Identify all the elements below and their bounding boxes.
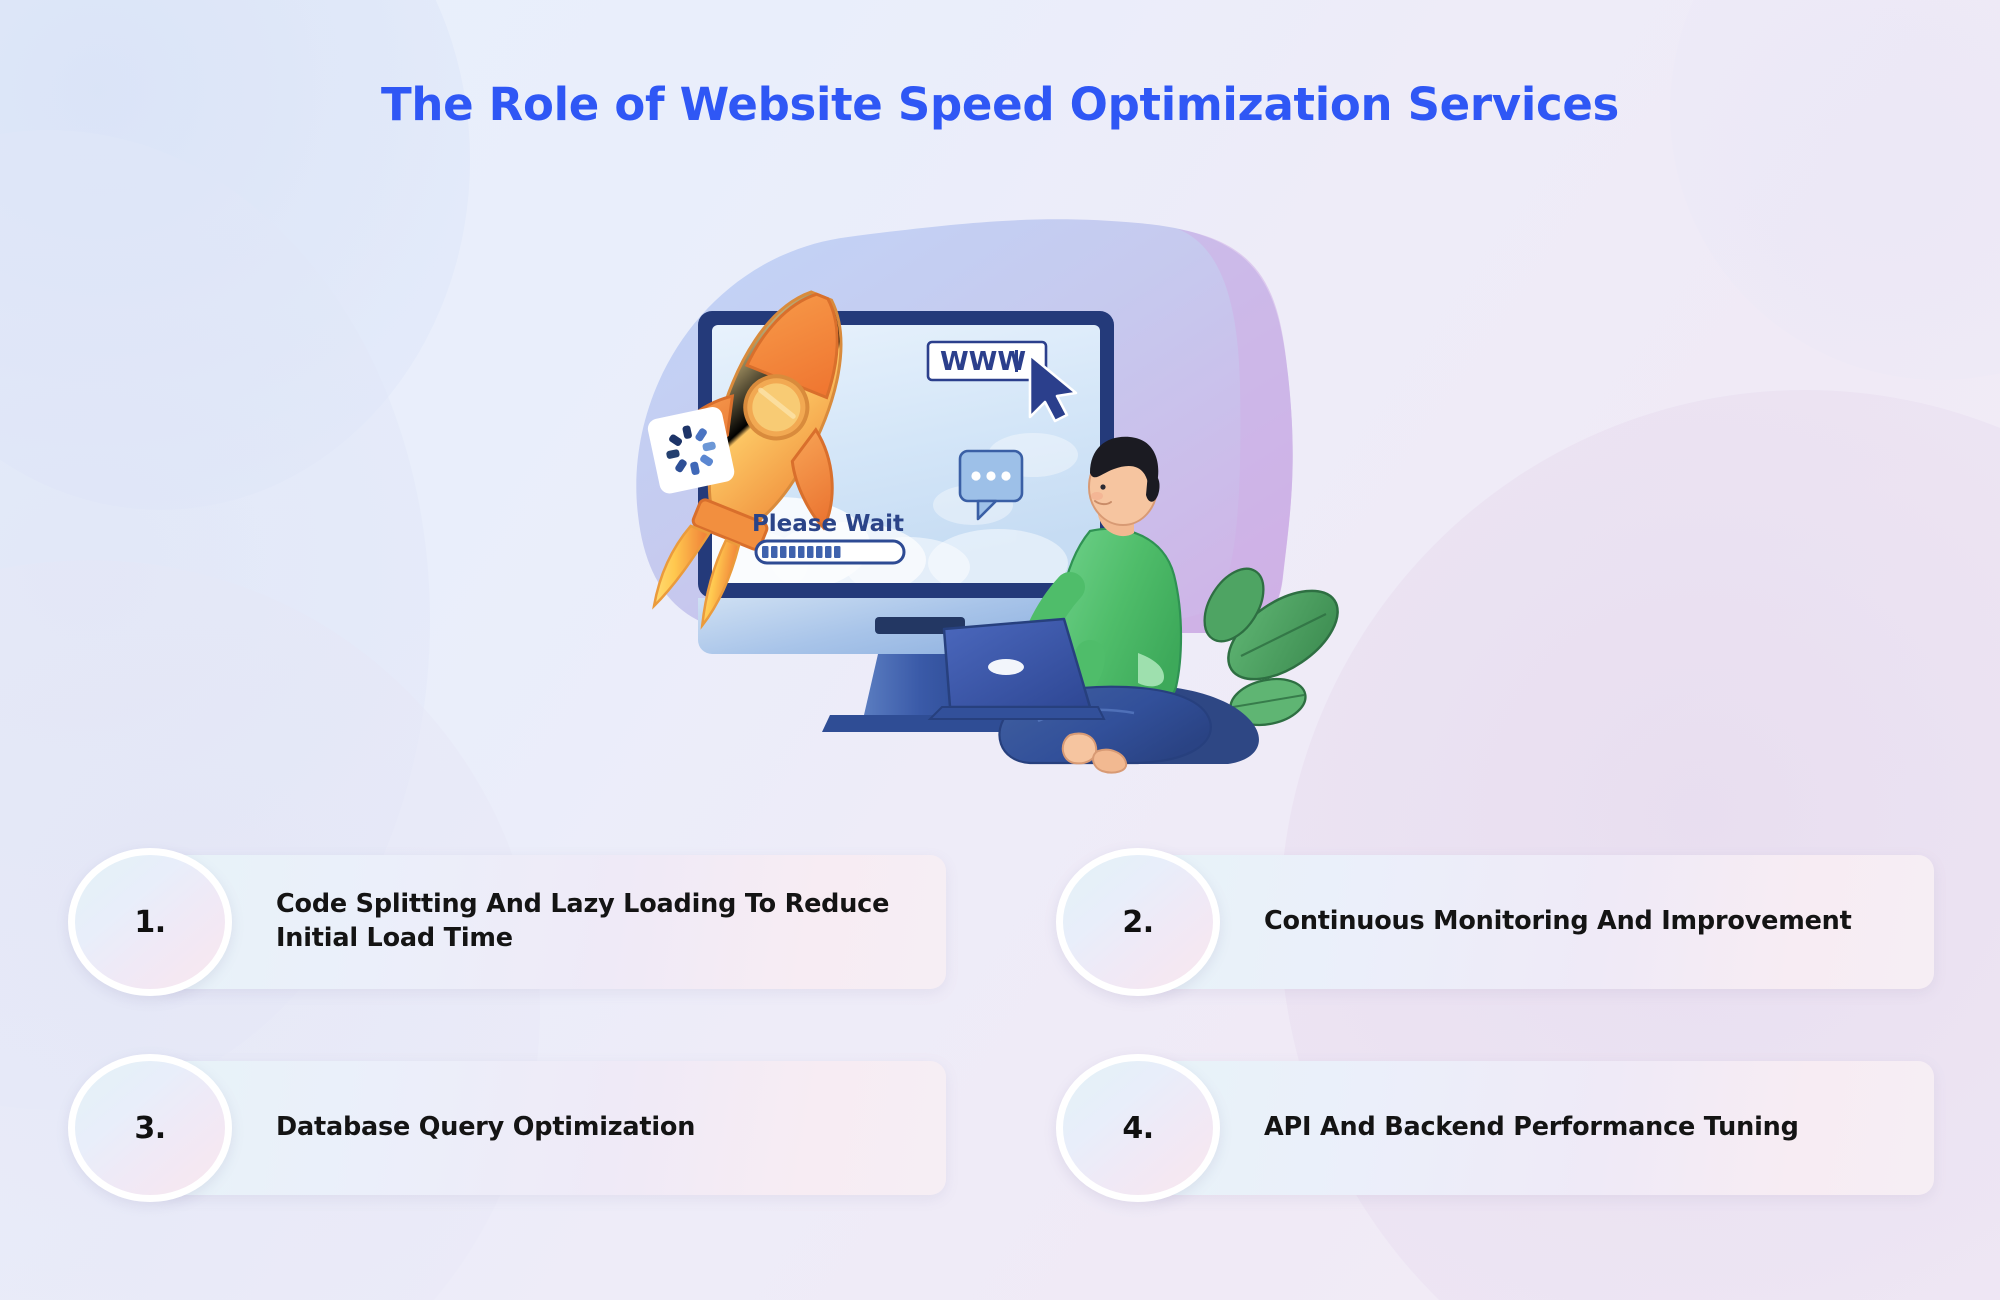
list-item[interactable]: Code Splitting And Lazy Loading To Reduc… <box>68 848 946 996</box>
item-card-3[interactable]: Database Query Optimization <box>156 1061 946 1195</box>
background-blob-top-right <box>1670 0 2000 380</box>
address-bar: WWW <box>928 342 1046 380</box>
address-bar-text: WWW <box>940 347 1026 377</box>
list-item[interactable]: Database Query Optimization 3. <box>68 1054 946 1202</box>
item-number-badge-4: 4. <box>1056 1054 1220 1202</box>
item-number-badge-1: 1. <box>68 848 232 996</box>
item-label-1: Code Splitting And Lazy Loading To Reduc… <box>276 888 918 956</box>
page-title: The Role of Website Speed Optimization S… <box>0 78 2000 131</box>
list-item[interactable]: Continuous Monitoring And Improvement 2. <box>1056 848 1934 996</box>
item-card-1[interactable]: Code Splitting And Lazy Loading To Reduc… <box>156 855 946 989</box>
item-label-2: Continuous Monitoring And Improvement <box>1264 905 1852 939</box>
item-label-4: API And Backend Performance Tuning <box>1264 1111 1799 1145</box>
items-row-2: Database Query Optimization 3. API And B… <box>68 1054 1934 1202</box>
please-wait-label: Please Wait <box>752 511 904 537</box>
item-number-2: 2. <box>1122 905 1153 940</box>
progress-bar-fill <box>762 546 841 558</box>
background-blob-top-left-a <box>0 0 470 510</box>
item-number-1: 1. <box>134 905 165 940</box>
item-number-badge-2: 2. <box>1056 848 1220 996</box>
list-item[interactable]: API And Backend Performance Tuning 4. <box>1056 1054 1934 1202</box>
items-row-1: Code Splitting And Lazy Loading To Reduc… <box>68 848 1934 996</box>
item-card-2[interactable]: Continuous Monitoring And Improvement <box>1144 855 1934 989</box>
text-caret <box>1015 350 1018 372</box>
loading-spinner-card <box>646 405 736 495</box>
item-number-4: 4. <box>1122 1111 1153 1146</box>
item-label-3: Database Query Optimization <box>276 1111 695 1145</box>
item-number-3: 3. <box>134 1111 165 1146</box>
item-card-4[interactable]: API And Backend Performance Tuning <box>1144 1061 1934 1195</box>
items-grid: Code Splitting And Lazy Loading To Reduc… <box>68 848 1934 1202</box>
hero-illustration: WWW Please Wait <box>578 215 1423 795</box>
item-number-badge-3: 3. <box>68 1054 232 1202</box>
